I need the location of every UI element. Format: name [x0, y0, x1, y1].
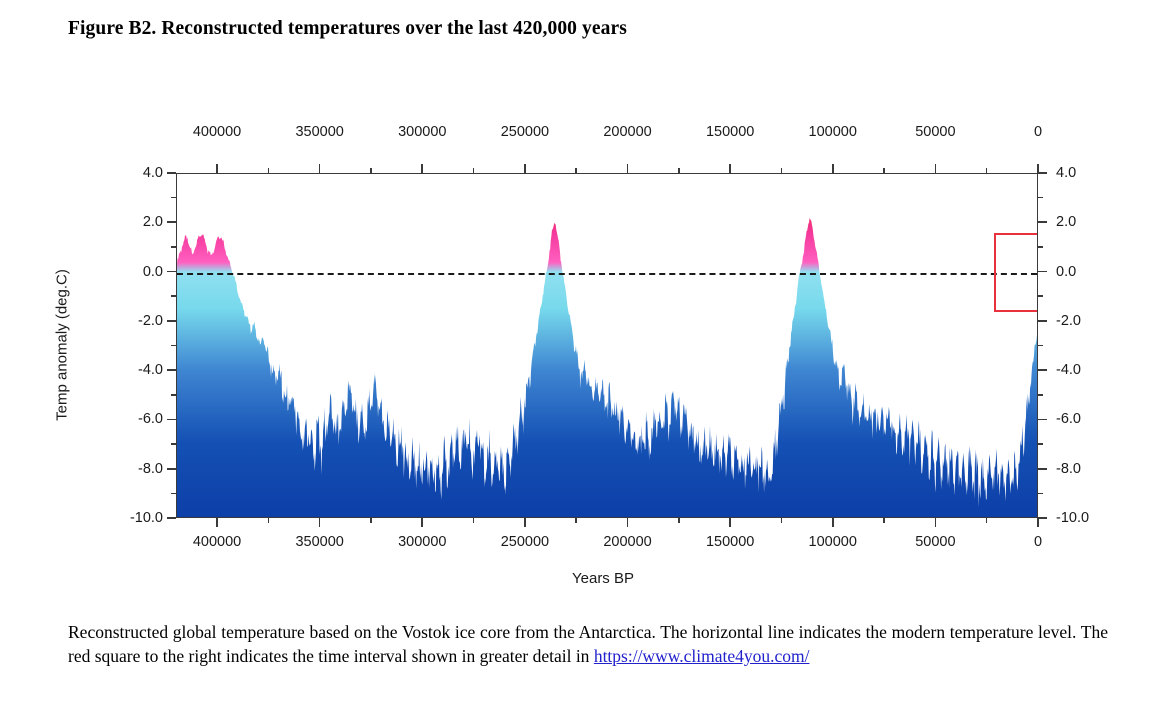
y-axis-tick-major: [1038, 271, 1047, 273]
y-axis-tick-major: [1038, 419, 1047, 421]
y-axis-tick-major: [1038, 172, 1047, 174]
y-axis-tick-label: 2.0: [1056, 214, 1076, 230]
y-axis-tick-minor: [1038, 246, 1043, 248]
climate4you-link[interactable]: https://www.climate4you.com/: [594, 646, 810, 666]
x-axis-tick-label: 50000: [915, 124, 955, 140]
zero-reference-line: [177, 273, 1037, 275]
x-axis-tick-major: [216, 164, 218, 173]
y-axis-tick-major: [167, 468, 176, 470]
temperature-anomaly-path: [177, 218, 1037, 517]
x-axis-tick-major: [935, 518, 937, 527]
y-axis-tick-label: 4.0: [95, 165, 163, 181]
x-axis-tick-major: [421, 518, 423, 527]
y-axis-tick-major: [1038, 320, 1047, 322]
x-axis-tick-minor: [575, 518, 577, 523]
x-axis-tick-label: 250000: [501, 124, 549, 140]
x-axis-tick-minor: [268, 518, 270, 523]
y-axis-tick-minor: [1038, 345, 1043, 347]
y-axis-tick-minor: [1038, 394, 1043, 396]
y-axis-tick-major: [167, 172, 176, 174]
y-axis-tick-major: [1038, 468, 1047, 470]
x-axis-tick-label: 350000: [295, 534, 343, 550]
x-axis-tick-minor: [781, 518, 783, 523]
x-axis-tick-minor: [370, 518, 372, 523]
x-axis-title-label: Years BP: [572, 570, 634, 587]
figure-caption: Reconstructed global temperature based o…: [68, 620, 1108, 668]
y-axis-tick-minor: [1038, 295, 1043, 297]
x-axis-tick-label: 0: [1034, 534, 1042, 550]
x-axis-tick-label: 300000: [398, 124, 446, 140]
temperature-anomaly-area-series: [177, 174, 1037, 517]
x-axis-tick-label: 200000: [603, 124, 651, 140]
y-axis-tick-label: -8.0: [95, 461, 163, 477]
y-axis-tick-label: -4.0: [95, 362, 163, 378]
x-axis-tick-major: [935, 164, 937, 173]
x-axis-tick-label: 400000: [193, 124, 241, 140]
x-axis-tick-major: [421, 164, 423, 173]
plot-clip: [177, 174, 1037, 517]
x-axis-title: Years BP: [0, 570, 1176, 587]
y-axis-tick-label: -8.0: [1056, 461, 1081, 477]
y-axis-tick-minor: [1038, 493, 1043, 495]
y-axis-tick-label: -10.0: [95, 510, 163, 526]
x-axis-tick-label: 300000: [398, 534, 446, 550]
y-axis-tick-major: [167, 320, 176, 322]
x-axis-tick-major: [524, 518, 526, 527]
y-axis-tick-label: -10.0: [1056, 510, 1089, 526]
x-axis-tick-label: 200000: [603, 534, 651, 550]
x-axis-tick-label: 50000: [915, 534, 955, 550]
x-axis-tick-label: 100000: [809, 534, 857, 550]
y-axis-tick-label: 2.0: [95, 214, 163, 230]
x-axis-tick-label: 100000: [809, 124, 857, 140]
y-axis-tick-label: -6.0: [1056, 411, 1081, 427]
x-axis-tick-major: [627, 164, 629, 173]
x-axis-tick-label: 400000: [193, 534, 241, 550]
y-axis-tick-major: [167, 271, 176, 273]
y-axis-tick-label: -2.0: [95, 313, 163, 329]
y-axis-tick-major: [1038, 517, 1047, 519]
chart-figure: 4000003500003000002500002000001500001000…: [0, 0, 1176, 610]
x-axis-tick-label: 350000: [295, 124, 343, 140]
y-axis-tick-minor: [1038, 443, 1043, 445]
y-axis-tick-label: 0.0: [95, 264, 163, 280]
y-axis-tick-minor: [1038, 197, 1043, 199]
x-axis-tick-minor: [473, 518, 475, 523]
y-axis-tick-major: [1038, 221, 1047, 223]
x-axis-tick-minor: [883, 518, 885, 523]
x-axis-tick-minor: [678, 518, 680, 523]
x-axis-tick-label: 150000: [706, 124, 754, 140]
y-axis-title: Temp anomaly (deg.C): [54, 269, 71, 421]
y-axis-tick-major: [167, 221, 176, 223]
detail-interval-rect: [994, 233, 1037, 312]
y-axis-tick-label: 4.0: [1056, 165, 1076, 181]
y-axis-tick-major: [167, 419, 176, 421]
y-axis-tick-major: [167, 369, 176, 371]
y-axis-tick-major: [167, 517, 176, 519]
y-axis-tick-label: -6.0: [95, 411, 163, 427]
x-axis-tick-major: [524, 164, 526, 173]
x-axis-tick-label: 150000: [706, 534, 754, 550]
x-axis-tick-major: [729, 164, 731, 173]
x-axis-tick-major: [1037, 518, 1039, 527]
x-axis-tick-major: [319, 164, 321, 173]
x-axis-tick-major: [832, 164, 834, 173]
x-axis-tick-label: 250000: [501, 534, 549, 550]
x-axis-tick-minor: [986, 518, 988, 523]
y-axis-tick-major: [1038, 369, 1047, 371]
x-axis-tick-major: [729, 518, 731, 527]
x-axis-tick-label: 0: [1034, 124, 1042, 140]
x-axis-tick-major: [319, 518, 321, 527]
y-axis-tick-label: 0.0: [1056, 264, 1076, 280]
x-axis-tick-major: [216, 518, 218, 527]
caption-text: Reconstructed global temperature based o…: [68, 622, 1108, 666]
y-axis-tick-label: -2.0: [1056, 313, 1081, 329]
x-axis-tick-major: [627, 518, 629, 527]
x-axis-tick-major: [832, 518, 834, 527]
y-axis-tick-label: -4.0: [1056, 362, 1081, 378]
plot-area: [176, 173, 1038, 518]
